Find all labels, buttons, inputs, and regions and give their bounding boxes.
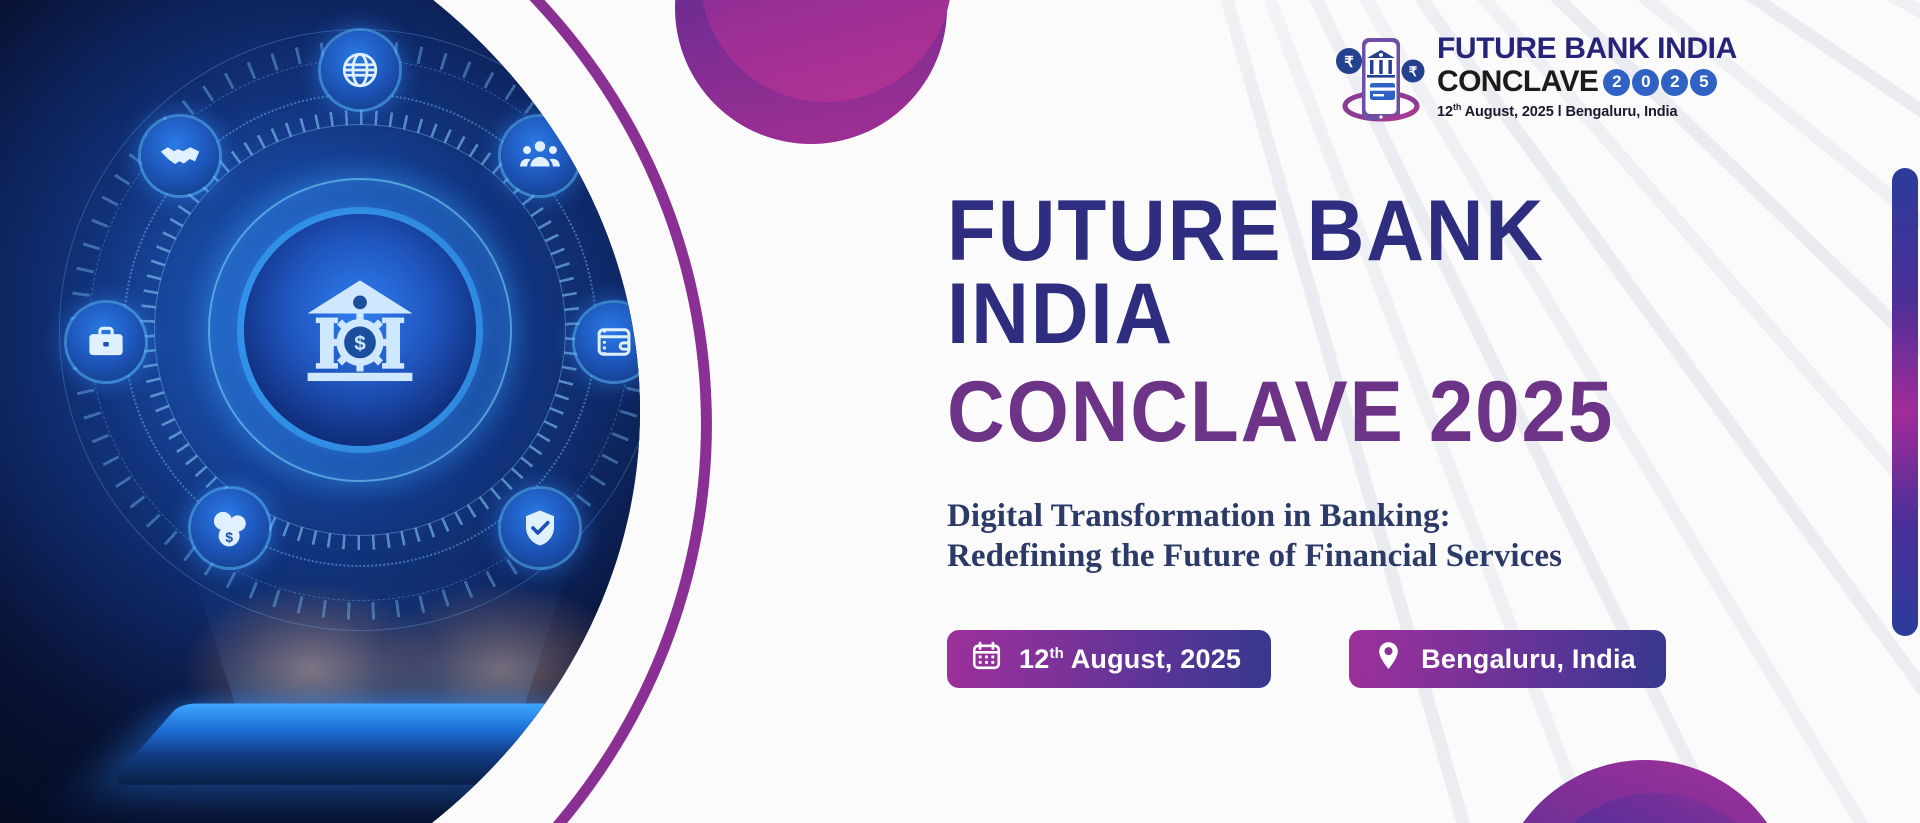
date-pill[interactable]: 12th August, 2025 xyxy=(947,630,1271,688)
page-title-line-1: FUTURE BANK INDIA xyxy=(947,190,1765,355)
date-pill-rest: August, 2025 xyxy=(1064,644,1241,674)
event-logo[interactable]: ₹ ₹ FUTURE BANK INDIA CONCLA xyxy=(1335,28,1737,128)
location-pill-label: Bengaluru, India xyxy=(1421,644,1636,675)
logo-tagline-rest: August, 2025 l Bengaluru, India xyxy=(1461,104,1677,120)
decorative-edge-bar xyxy=(1892,168,1918,636)
logo-year-digit-0: 2 xyxy=(1603,69,1630,96)
logo-line-2: CONCLAVE 2 0 2 5 xyxy=(1437,67,1737,97)
smartphone-bank-rupee-logo-icon: ₹ ₹ xyxy=(1335,28,1427,128)
calendar-icon xyxy=(971,640,1002,678)
location-pin-icon xyxy=(1373,640,1404,678)
svg-text:₹: ₹ xyxy=(1409,64,1418,79)
logo-conclave-word: CONCLAVE xyxy=(1437,67,1598,97)
info-pills: 12th August, 2025 Bengaluru, India xyxy=(947,630,1827,688)
logo-wordmark: FUTURE BANK INDIA CONCLAVE 2 0 2 5 12th … xyxy=(1437,28,1737,120)
logo-line-1: FUTURE BANK INDIA xyxy=(1437,34,1737,64)
page-subtitle-line-1: Digital Transformation in Banking: xyxy=(947,496,1827,536)
logo-year-circles: 2 0 2 5 xyxy=(1603,69,1717,96)
logo-tagline-day: 12 xyxy=(1437,104,1453,120)
svg-text:₹: ₹ xyxy=(1344,54,1354,71)
page-subtitle: Digital Transformation in Banking: Redef… xyxy=(947,496,1827,577)
date-pill-ordinal: th xyxy=(1049,645,1064,662)
logo-year-digit-3: 5 xyxy=(1690,69,1717,96)
conclave-banner: $ xyxy=(0,0,1920,823)
location-pill[interactable]: Bengaluru, India xyxy=(1349,630,1666,688)
main-content: FUTURE BANK INDIA CONCLAVE 2025 Digital … xyxy=(947,190,1827,688)
logo-year-digit-1: 0 xyxy=(1632,69,1659,96)
logo-tagline: 12th August, 2025 l Bengaluru, India xyxy=(1437,102,1737,120)
page-subtitle-line-2: Redefining the Future of Financial Servi… xyxy=(947,536,1827,576)
logo-tagline-ordinal: th xyxy=(1453,102,1461,112)
logo-year-digit-2: 2 xyxy=(1661,69,1688,96)
date-pill-day: 12 xyxy=(1019,644,1049,674)
date-pill-label: 12th August, 2025 xyxy=(1019,644,1241,675)
page-title-line-2: CONCLAVE 2025 xyxy=(947,371,1765,454)
